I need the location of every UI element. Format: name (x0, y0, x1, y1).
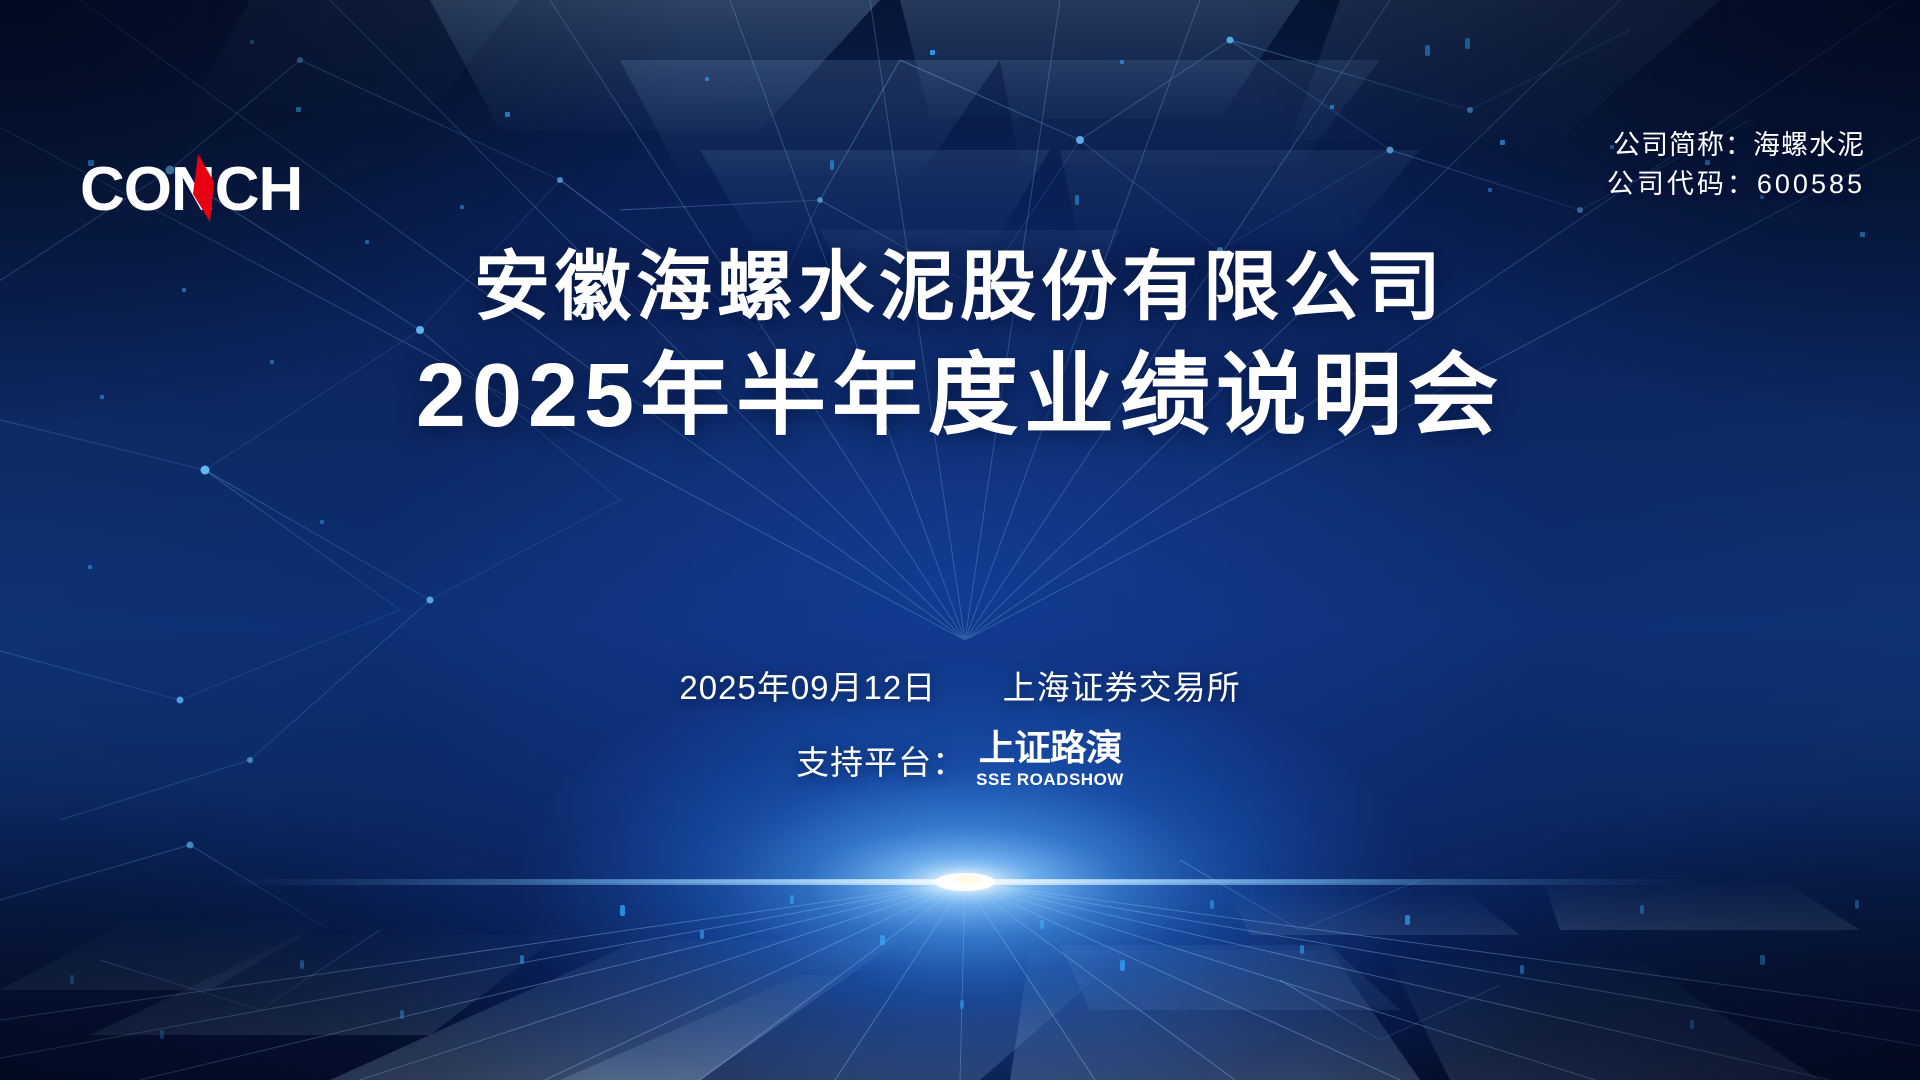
page-title: 安徽海螺水泥股份有限公司 2025年半年度业绩说明会 (0, 240, 1920, 452)
floor-radial-lines (0, 882, 1920, 1080)
corporate-info-block: 公司简称：海螺水泥 公司代码：600585 (1607, 126, 1865, 204)
date-venue-row: 2025年09月12日 上海证券交易所 (0, 665, 1920, 711)
sse-roadshow-logo: 上证路演 SSE ROADSHOW (976, 731, 1124, 788)
company-short-name-line: 公司简称：海螺水泥 (1607, 126, 1865, 165)
platform-row: 支持平台： 上证路演 SSE ROADSHOW (0, 731, 1920, 788)
sse-roadshow-logo-cn: 上证路演 (979, 731, 1122, 767)
floor-slabs (0, 885, 1860, 1080)
event-venue: 上海证券交易所 (1003, 669, 1241, 706)
event-date: 2025年09月12日 (679, 669, 936, 706)
event-meta-block: 2025年09月12日 上海证券交易所 支持平台： 上证路演 SSE ROADS… (0, 665, 1920, 788)
platform-label: 支持平台： (796, 736, 966, 784)
presentation-slide: CONCH 公司简称：海螺水泥 公司代码：600585 安徽海螺水泥股份有限公司… (0, 0, 1920, 1080)
title-line-company: 安徽海螺水泥股份有限公司 (0, 240, 1920, 336)
title-line-event: 2025年半年度业绩说明会 (0, 340, 1920, 452)
floor-horizontal-lines (0, 893, 1920, 1052)
company-code-line: 公司代码：600585 (1607, 165, 1865, 204)
conch-logo: CONCH (80, 152, 340, 224)
conch-logo-wordmark: CONCH (80, 155, 302, 224)
sse-roadshow-logo-en: SSE ROADSHOW (976, 771, 1124, 788)
conch-logo-mark: CONCH (80, 152, 340, 224)
